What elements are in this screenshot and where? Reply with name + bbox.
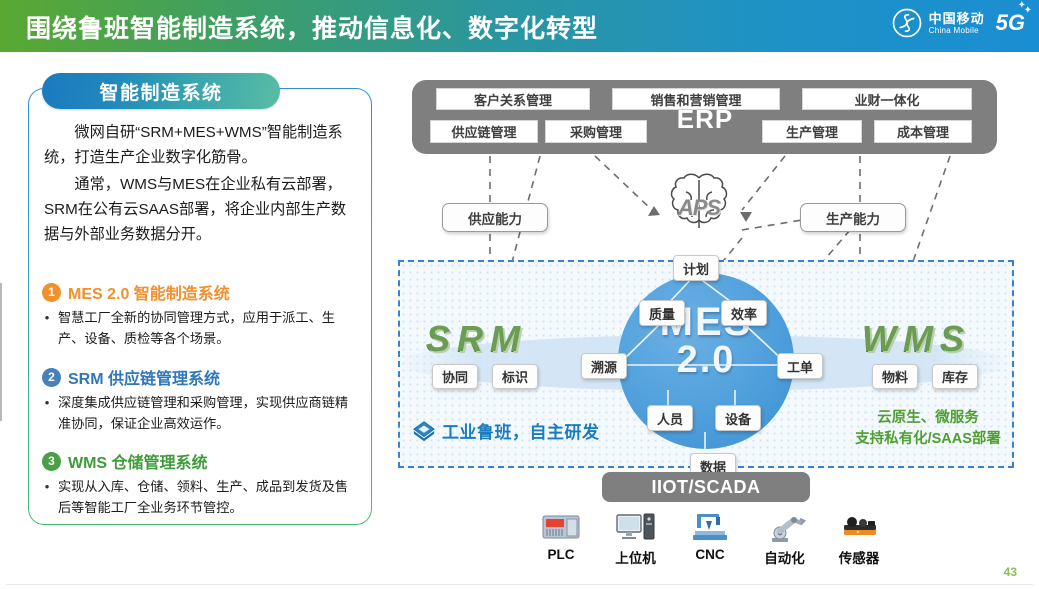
diamond-layers-icon	[412, 419, 436, 443]
device-row: PLC 上位机	[530, 510, 890, 567]
wms-tag-inventory[interactable]: 库存	[932, 364, 978, 389]
device-cnc-label: CNC	[695, 547, 724, 562]
bullet-dot-icon: •	[42, 476, 52, 518]
five-g-logo: 5G ✦ ✦	[996, 10, 1025, 36]
section-mes-bullet-text: 智慧工厂全新的协同管理方式，应用于派工、生产、设备、质检等各个场景。	[58, 307, 360, 349]
cloud-note-line2: 支持私有化/SAAS部署	[842, 429, 1014, 450]
section-srm-bullet: • 深度集成供应链管理和采购管理，实现供应商链精准协同，保证企业高效运作。	[42, 392, 360, 434]
section-srm-head: 2 SRM 供应链管理系统	[42, 365, 360, 389]
mes-node-quality[interactable]: 质量	[639, 300, 685, 326]
brand-lockup: 中国移动 China Mobile 5G ✦ ✦	[892, 8, 1025, 38]
section-wms-title: WMS 仓储管理系统	[68, 449, 208, 473]
device-plc-label: PLC	[548, 547, 575, 562]
card-title-pill: 智能制造系统	[42, 73, 280, 109]
section-wms-bullet-text: 实现从入库、仓储、领料、生产、成品到发货及售后等智能工厂全业务环节管控。	[58, 476, 360, 518]
section-wms-head: 3 WMS 仓储管理系统	[42, 449, 360, 473]
brand-name-en: China Mobile	[929, 27, 985, 35]
device-host-label: 上位机	[615, 547, 656, 567]
bullet-dot-icon: •	[42, 392, 52, 434]
device-sensor-label: 传感器	[839, 547, 880, 567]
sensor-icon	[838, 510, 880, 544]
section-wms: 3 WMS 仓储管理系统 • 实现从入库、仓储、领料、生产、成品到发货及售后等智…	[42, 449, 360, 518]
brand-text: 中国移动 China Mobile	[929, 12, 985, 35]
section-srm-bullet-text: 深度集成供应链管理和采购管理，实现供应商链精准协同，保证企业高效运作。	[58, 392, 360, 434]
robot-arm-icon	[764, 510, 806, 544]
plc-module-icon	[540, 510, 582, 544]
desktop-computer-icon	[615, 510, 657, 544]
mes-node-traceability[interactable]: 溯源	[581, 353, 627, 379]
device-plc[interactable]: PLC	[530, 510, 592, 567]
china-mobile-swirl-icon	[892, 8, 922, 38]
srm-wordmark: SRM	[426, 318, 527, 360]
card-title-text: 智能制造系统	[99, 78, 222, 105]
brand-name-cn: 中国移动	[929, 12, 985, 25]
section-mes-bullet: • 智慧工厂全新的协同管理方式，应用于派工、生产、设备、质检等各个场景。	[42, 307, 360, 349]
footer-divider	[6, 584, 1033, 585]
srm-tag-identification[interactable]: 标识	[492, 364, 538, 389]
card-paragraph-1: 微网自研“SRM+MES+WMS”智能制造系统，打造生产企业数字化筋骨。	[44, 120, 356, 170]
device-host[interactable]: 上位机	[605, 510, 667, 567]
luban-badge: 工业鲁班，自主研发	[412, 418, 600, 443]
page-title: 围绕鲁班智能制造系统，推动信息化、数字化转型	[26, 9, 598, 45]
cnc-machine-icon	[689, 510, 731, 544]
mes-node-plan[interactable]: 计划	[673, 255, 719, 281]
iiot-scada-bar: IIOT/SCADA	[602, 472, 810, 502]
mes-node-efficiency[interactable]: 效率	[721, 300, 767, 326]
section-srm: 2 SRM 供应链管理系统 • 深度集成供应链管理和采购管理，实现供应商链精准协…	[42, 365, 360, 434]
srm-tag-collaboration[interactable]: 协同	[432, 364, 478, 389]
section-mes-title: MES 2.0 智能制造系统	[68, 280, 230, 304]
slide-root: 围绕鲁班智能制造系统，推动信息化、数字化转型 中国移动 China Mobile…	[0, 0, 1039, 589]
luban-text: 工业鲁班，自主研发	[442, 418, 600, 443]
section-wms-badge: 3	[42, 452, 61, 471]
device-cnc[interactable]: CNC	[679, 510, 741, 567]
cloud-note-line1: 云原生、微服务	[842, 408, 1014, 429]
mes-node-personnel[interactable]: 人员	[647, 405, 693, 431]
cloud-capability-note: 云原生、微服务 支持私有化/SAAS部署	[842, 408, 1014, 450]
section-mes-head: 1 MES 2.0 智能制造系统	[42, 280, 360, 304]
architecture-diagram: ERP 客户关系管理 销售和营销管理 业财一体化 供应链管理 采购管理 生产管理…	[390, 60, 1030, 565]
mes-node-equipment[interactable]: 设备	[715, 405, 761, 431]
wms-tag-material[interactable]: 物料	[872, 364, 918, 389]
card-body: 微网自研“SRM+MES+WMS”智能制造系统，打造生产企业数字化筋骨。 通常，…	[44, 120, 356, 249]
device-automation[interactable]: 自动化	[754, 510, 816, 567]
section-mes-badge: 1	[42, 283, 61, 302]
five-g-text: 5G	[996, 10, 1025, 35]
mes-node-work-order[interactable]: 工单	[777, 353, 823, 379]
slide-header: 围绕鲁班智能制造系统，推动信息化、数字化转型 中国移动 China Mobile…	[0, 0, 1039, 52]
page-number: 43	[1004, 565, 1017, 579]
device-sensor[interactable]: 传感器	[828, 510, 890, 567]
section-srm-badge: 2	[42, 368, 61, 387]
section-wms-bullet: • 实现从入库、仓储、领料、生产、成品到发货及售后等智能工厂全业务环节管控。	[42, 476, 360, 518]
wms-wordmark: WMS	[862, 318, 971, 360]
device-automation-label: 自动化	[764, 547, 805, 567]
bullet-dot-icon: •	[42, 307, 52, 349]
left-edge-divider	[0, 283, 2, 421]
sparkle-icon-2: ✦	[1018, 0, 1026, 11]
card-paragraph-2: 通常，WMS与MES在企业私有云部署，SRM在公有云SAAS部署，将企业内部生产…	[44, 172, 356, 247]
section-mes: 1 MES 2.0 智能制造系统 • 智慧工厂全新的协同管理方式，应用于派工、生…	[42, 280, 360, 349]
section-srm-title: SRM 供应链管理系统	[68, 365, 220, 389]
